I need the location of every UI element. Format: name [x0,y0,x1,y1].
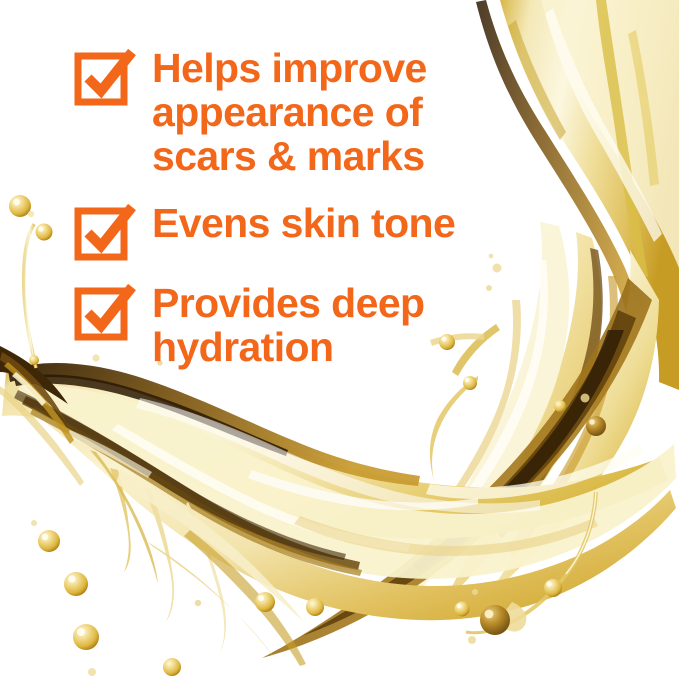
benefit-item-skin-tone[interactable]: Evens skin tone [74,201,455,263]
infographic-canvas: Helps improve appearance of scars & mark… [0,0,679,679]
checkbox-checked-icon[interactable] [74,48,136,108]
checkbox-checked-icon[interactable] [74,283,136,343]
benefit-item-hydration[interactable]: Provides deep hydration [74,281,424,369]
benefits-list: Helps improve appearance of scars & mark… [0,0,679,679]
benefit-label: Evens skin tone [152,201,455,245]
benefit-label: Provides deep hydration [152,281,424,369]
benefit-item-scars[interactable]: Helps improve appearance of scars & mark… [74,46,427,178]
benefit-label: Helps improve appearance of scars & mark… [152,46,427,178]
checkbox-checked-icon[interactable] [74,203,136,263]
